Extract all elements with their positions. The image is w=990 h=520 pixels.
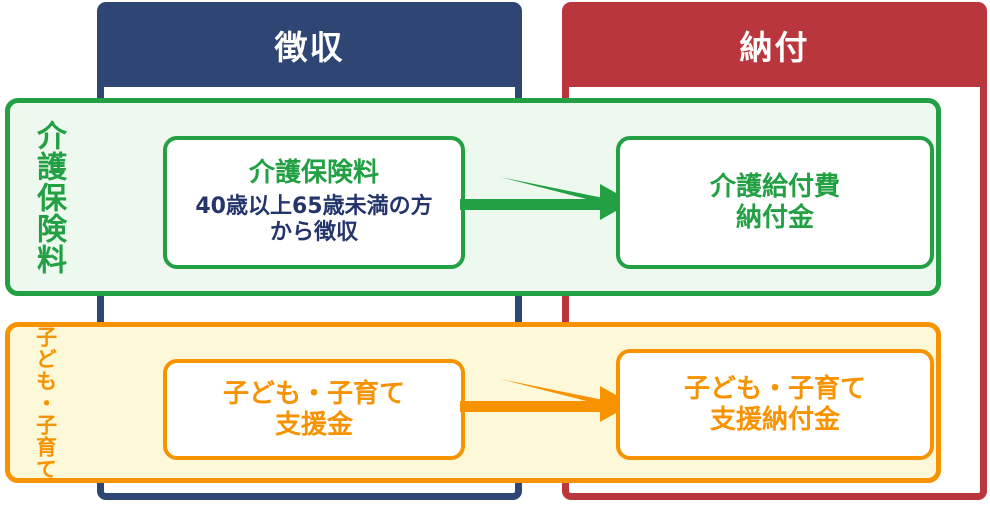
node-kosodate-payment-line1: 子ども・子育て (684, 374, 866, 405)
node-kaigo-benefit: 介護給付費 納付金 (616, 136, 934, 269)
node-kosodate-payment-line2: 支援納付金 (710, 405, 840, 436)
diagram-canvas: 徴収 納付 介護保険料 介護保険料 40歳以上65歳未満の方 から徴収 介護給付… (0, 0, 990, 520)
node-kaigo-premium: 介護保険料 40歳以上65歳未満の方 から徴収 (163, 136, 465, 269)
column-collect-title: 徴収 (275, 21, 345, 69)
node-kosodate-support: 子ども・子育て 支援金 (163, 359, 465, 460)
column-pay-header: 納付 (562, 2, 987, 87)
band-kaigo-label: 介護保険料 (26, 110, 70, 285)
node-kaigo-premium-detail-line2: から徴収 (270, 220, 358, 246)
arrow-kosodate (460, 374, 632, 426)
node-kosodate-support-line2: 支援金 (275, 410, 353, 441)
node-kosodate-payment: 子ども・子育て 支援納付金 (616, 349, 934, 460)
node-kaigo-benefit-line2: 納付金 (736, 203, 814, 234)
node-kosodate-support-line1: 子ども・子育て (223, 379, 405, 410)
band-kosodate-label: 子ども・子育て (28, 333, 62, 473)
column-pay-title: 納付 (740, 21, 810, 69)
column-collect-header: 徴収 (97, 2, 522, 87)
arrow-kaigo (460, 172, 632, 224)
node-kaigo-benefit-line1: 介護給付費 (710, 172, 840, 203)
node-kaigo-premium-detail-line1: 40歳以上65歳未満の方 (195, 194, 432, 220)
node-kaigo-premium-title: 介護保険料 (249, 158, 379, 189)
